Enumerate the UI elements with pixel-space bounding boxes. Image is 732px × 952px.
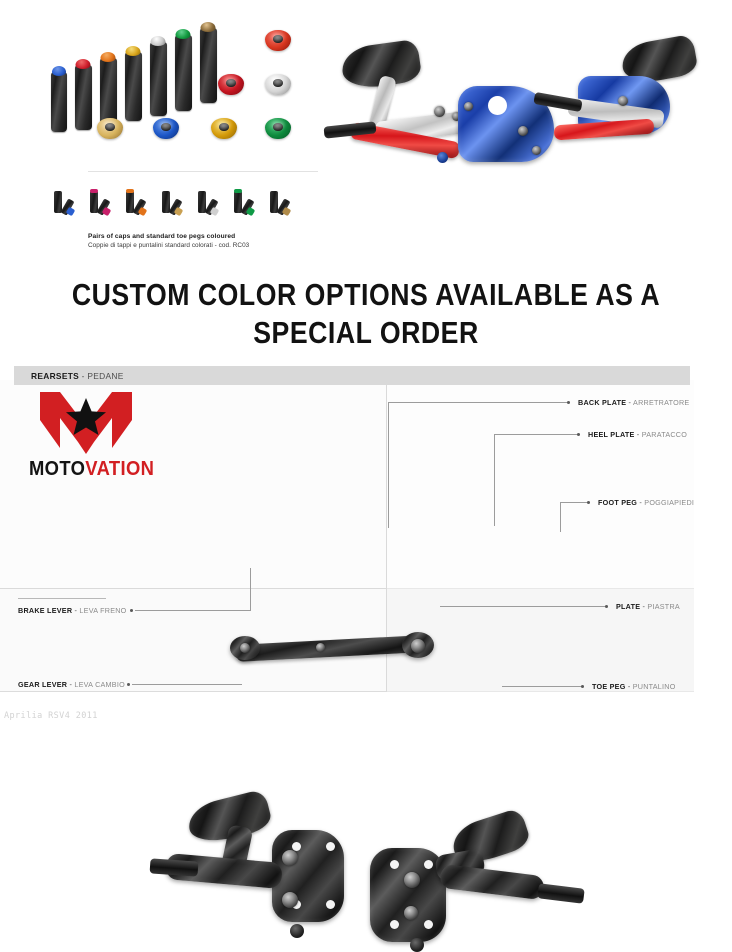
callout-it: POGGIAPIEDI <box>644 498 694 507</box>
mount-hole <box>326 900 335 909</box>
back-plate-right <box>370 848 446 942</box>
callout-sep: - <box>626 682 633 691</box>
foot-peg-right-lower <box>537 883 584 903</box>
callout-sep: - <box>635 430 642 439</box>
caps-caption-en: Pairs of caps and standard toe pegs colo… <box>88 232 338 241</box>
leader-dot <box>567 401 570 404</box>
gear-lever-red-right <box>554 119 655 141</box>
caps-divider <box>88 171 338 172</box>
callout-it: PIASTRA <box>647 602 680 611</box>
leader-heel-plate-h <box>494 434 578 435</box>
leader-foot-peg-h <box>560 502 588 503</box>
callout-en: HEEL PLATE <box>588 430 635 439</box>
leader-dot <box>605 605 608 608</box>
callout-it: LEVA FRENO <box>79 606 126 615</box>
leader-dot <box>581 685 584 688</box>
toe-peg <box>125 52 142 121</box>
toe-peg <box>100 58 117 126</box>
cap-silver <box>265 74 291 95</box>
leader-toe-peg-h <box>502 686 582 687</box>
pivot-bolt <box>434 106 445 117</box>
toe-peg-left <box>290 924 304 938</box>
mini-peg-end-blue <box>66 207 76 217</box>
mount-hole <box>326 842 335 851</box>
mini-peg-top-green <box>234 189 242 193</box>
cap-bronze <box>97 118 123 139</box>
leader-gear-lever-h <box>132 684 242 685</box>
rearsets-header-text: REARSETS - PEDANE <box>31 371 124 381</box>
toe-peg <box>175 35 192 111</box>
footer: Aprilia RSV4 2011 <box>0 703 732 732</box>
mini-peg-end-green <box>246 207 256 217</box>
toe-peg-cap-bronze <box>201 22 216 32</box>
diagram-inset-top-right <box>387 380 694 588</box>
logo-text-a: MOTO <box>29 458 85 480</box>
callout-back-plate: BACK PLATE - ARRETRATORE <box>578 398 689 407</box>
pivot-bolt <box>404 872 420 888</box>
mount-hole <box>424 920 433 929</box>
pivot-bolt <box>518 126 528 136</box>
mount-hole <box>390 860 399 869</box>
gear-lever-bolt-left <box>240 643 250 653</box>
motovation-logo: MOTOVATION <box>24 390 148 482</box>
left-divider-rule <box>18 598 106 599</box>
callout-en: TOE PEG <box>592 682 626 691</box>
callout-it: PUNTALINO <box>633 682 676 691</box>
toe-peg <box>51 72 67 132</box>
leader-plate-h <box>440 606 606 607</box>
mini-peg-end-pink <box>102 207 112 217</box>
rearsets-header-en: REARSETS <box>31 371 79 381</box>
callout-plate: PLATE - PIASTRA <box>616 602 680 611</box>
callout-it: ARRETRATORE <box>633 398 689 407</box>
rearsets-photo-panel: · The rearsets pictured is for illustrat… <box>318 4 732 256</box>
mini-peg-end-orange <box>138 207 148 217</box>
toe-peg <box>200 28 217 103</box>
headline-line-1: CUSTOM COLOR OPTIONS AVAILABLE AS A SPEC… <box>51 258 681 352</box>
pivot-bolt <box>282 850 298 866</box>
mini-peg-end-silver <box>210 207 220 217</box>
caps-and-toepegs-photo: Pairs of caps and standard toe pegs colo… <box>33 8 313 248</box>
mount-hole <box>424 860 433 869</box>
leader-dot <box>587 501 590 504</box>
foot-peg-arm-right <box>439 864 545 900</box>
toe-peg-cap-blue <box>52 66 66 76</box>
toe-peg-cap-orange <box>101 52 116 62</box>
mount-hole <box>292 842 301 851</box>
logo-text-b: VATION <box>85 458 154 480</box>
mini-peg-end-bronze <box>282 207 292 217</box>
callout-en: FOOT PEG <box>598 498 637 507</box>
toe-peg-cap-red <box>76 59 91 69</box>
cap-red-mid <box>218 74 244 95</box>
cap-red-top <box>265 30 291 51</box>
pivot-bolt <box>464 102 473 111</box>
callout-en: BACK PLATE <box>578 398 626 407</box>
callout-heel-plate: HEEL PLATE - PARATACCO <box>588 430 687 439</box>
leader-dot <box>130 609 133 612</box>
foot-peg-left-lower <box>150 858 199 876</box>
motovation-mark-icon <box>38 390 134 456</box>
cap-gold <box>211 118 237 139</box>
rearsets-header-bar: REARSETS - PEDANE <box>14 366 690 385</box>
mini-peg-end-gold <box>174 207 184 217</box>
caps-caption: Pairs of caps and standard toe pegs colo… <box>88 232 338 250</box>
toe-peg-cap-green <box>176 29 191 39</box>
mini-peg-top-pink <box>90 189 98 193</box>
callout-gear-lever: GEAR LEVER - LEVA CAMBIO <box>18 680 125 689</box>
callout-en: PLATE <box>616 602 640 611</box>
mini-peg-top-orange <box>126 189 134 193</box>
top-product-section: Pairs of caps and standard toe pegs colo… <box>0 0 732 258</box>
leader-heel-plate-v <box>494 434 495 526</box>
callout-brake-lever: BRAKE LEVER - LEVA FRENO <box>18 606 127 615</box>
pivot-bolt <box>532 146 541 155</box>
rearsets-diagram: REARSETS - PEDANE MOTOVATION <box>0 358 732 703</box>
callout-en: GEAR LEVER <box>18 680 67 689</box>
callout-en: BRAKE LEVER <box>18 606 72 615</box>
cap-green <box>265 118 291 139</box>
leader-dot <box>577 433 580 436</box>
toe-peg <box>150 42 167 116</box>
callout-it: PARATACCO <box>642 430 687 439</box>
rearsets-header-it: PEDANE <box>87 371 123 381</box>
leader-foot-peg-v <box>560 502 561 532</box>
leader-back-plate-v <box>388 402 389 528</box>
toe-peg-right <box>410 938 424 952</box>
toe-peg-cap-gold <box>126 46 141 56</box>
cap-blue <box>153 118 179 139</box>
callout-toe-peg: TOE PEG - PUNTALINO <box>592 682 676 691</box>
mount-hole <box>390 920 399 929</box>
leader-brake-lever-v <box>250 568 251 610</box>
leader-back-plate-h <box>388 402 568 403</box>
headline-block: CUSTOM COLOR OPTIONS AVAILABLE AS A SPEC… <box>0 258 732 358</box>
leader-dot <box>127 683 130 686</box>
motovation-wordmark: MOTOVATION <box>29 458 143 481</box>
footer-caption: Aprilia RSV4 2011 <box>4 711 98 721</box>
toe-peg <box>75 65 92 130</box>
pivot-bolt <box>282 892 298 908</box>
toe-peg-blue <box>437 152 448 163</box>
back-plate-hole <box>488 96 507 115</box>
logo-m-star-icon <box>38 390 134 456</box>
callout-foot-peg: FOOT PEG - POGGIAPIEDI <box>598 498 694 507</box>
gear-lever-bolt-mid <box>316 643 325 652</box>
gear-lever-bolt-right <box>411 639 425 653</box>
leader-brake-lever-h <box>135 610 251 611</box>
caps-caption-it: Coppie di tappi e puntalini standard col… <box>88 241 338 250</box>
pivot-bolt <box>404 906 418 920</box>
callout-it: LEVA CAMBIO <box>74 680 125 689</box>
toe-peg-cap-silver <box>151 36 166 46</box>
pivot-bolt <box>618 96 628 106</box>
